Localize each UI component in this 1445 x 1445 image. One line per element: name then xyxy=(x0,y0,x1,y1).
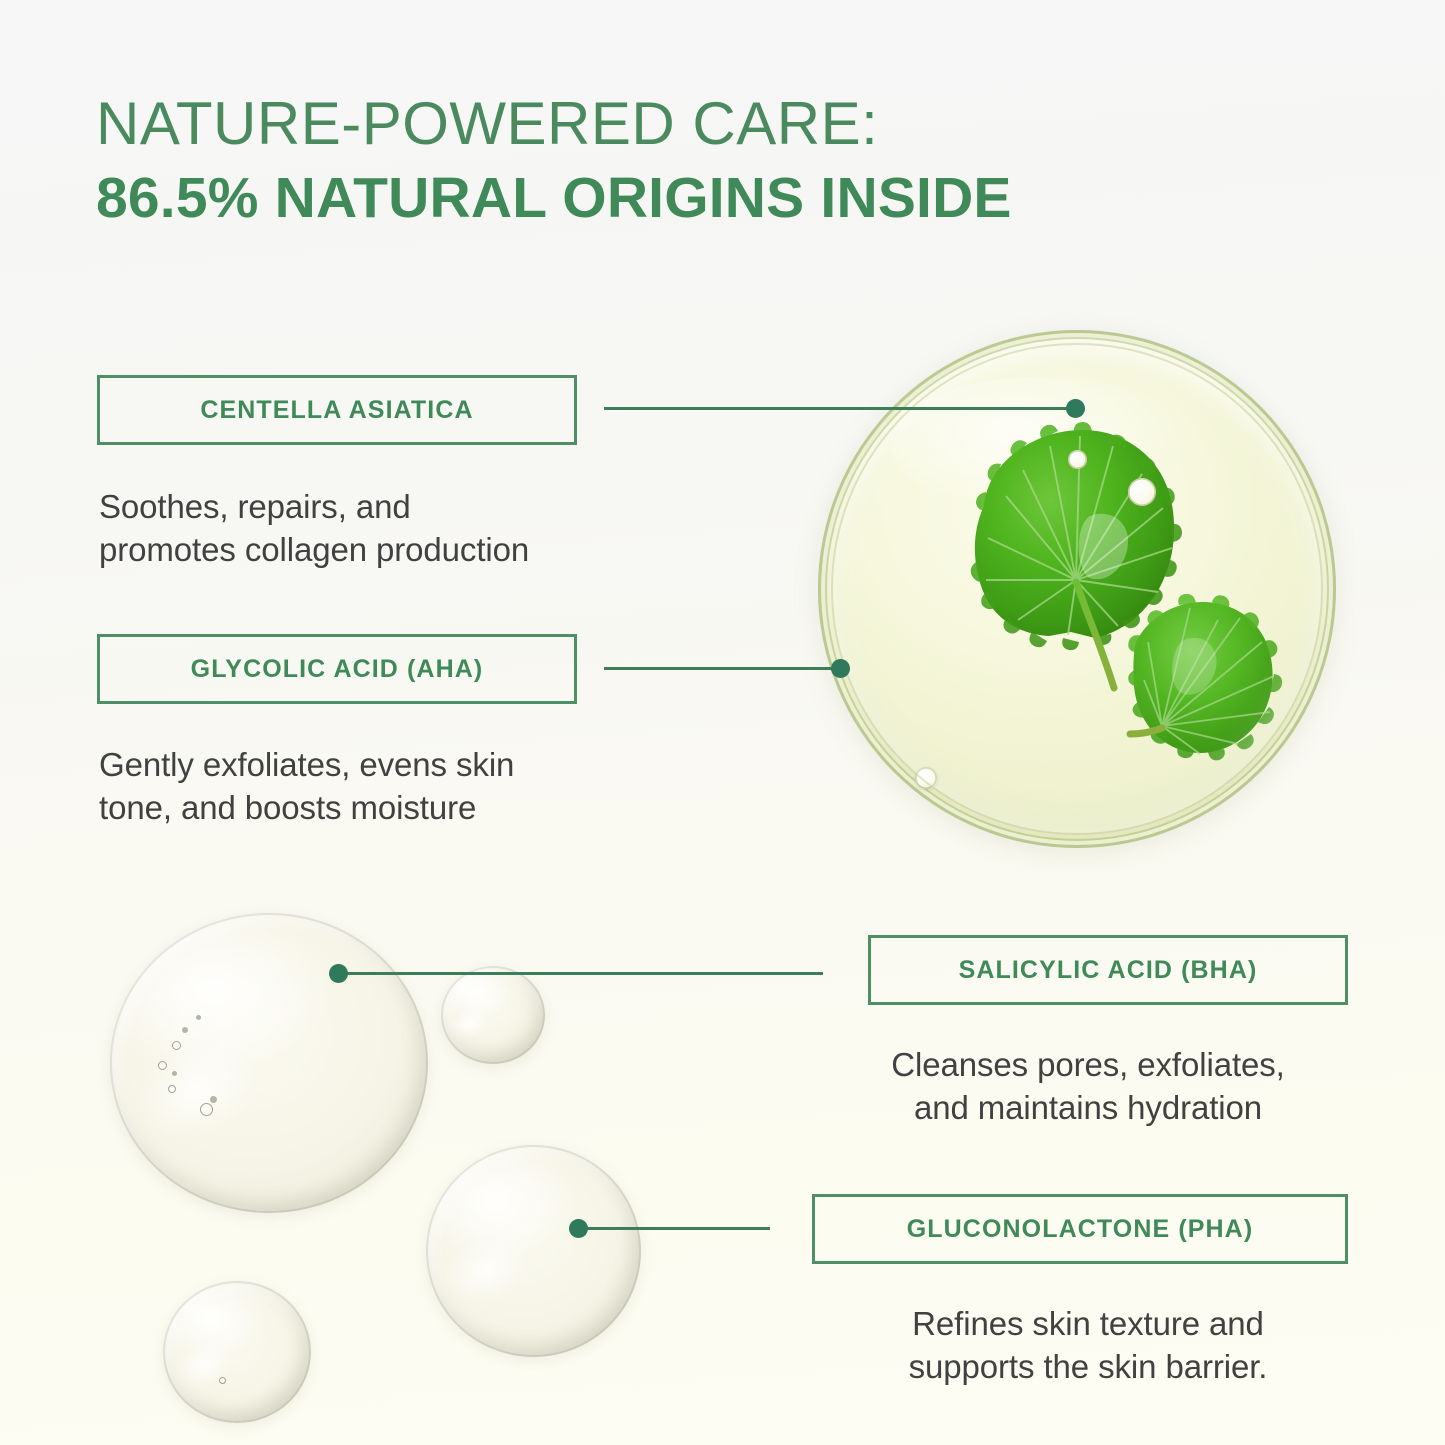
ingredient-description-salicylic-acid: Cleanses pores, exfoliates, and maintain… xyxy=(828,1044,1348,1130)
connector-line-salicylic xyxy=(345,972,823,975)
description-line-2: promotes collagen production xyxy=(99,529,719,572)
connector-dot-centella xyxy=(1066,399,1085,418)
leaf-small xyxy=(1128,594,1282,760)
micro-bubble xyxy=(196,1015,201,1020)
micro-bubble xyxy=(172,1041,181,1050)
description-line-1: Soothes, repairs, and xyxy=(99,486,719,529)
ingredient-description-gluconolactone: Refines skin texture and supports the sk… xyxy=(828,1303,1348,1389)
ingredient-label-gluconolactone[interactable]: GLUCONOLACTONE (PHA) xyxy=(812,1194,1348,1264)
description-line-1: Refines skin texture and xyxy=(828,1303,1348,1346)
droplet-rim xyxy=(426,1145,641,1357)
ingredient-label-text: SALICYLIC ACID (BHA) xyxy=(959,956,1258,985)
gel-droplet-small-bottom xyxy=(163,1281,311,1423)
page-title: NATURE-POWERED CARE: 86.5% NATURAL ORIGI… xyxy=(96,92,1276,229)
description-line-2: supports the skin barrier. xyxy=(828,1346,1348,1389)
gel-droplet-small-top xyxy=(441,966,545,1064)
ingredient-label-salicylic-acid[interactable]: SALICYLIC ACID (BHA) xyxy=(868,935,1348,1005)
ingredient-label-text: GLUCONOLACTONE (PHA) xyxy=(907,1215,1254,1244)
liquid-bubble-3 xyxy=(915,767,937,789)
ingredient-description-centella-asiatica: Soothes, repairs, and promotes collagen … xyxy=(99,486,719,572)
ingredient-label-centella-asiatica[interactable]: CENTELLA ASIATICA xyxy=(97,375,577,445)
micro-bubble xyxy=(172,1071,177,1076)
description-line-1: Gently exfoliates, evens skin xyxy=(99,744,719,787)
micro-bubble xyxy=(182,1027,188,1033)
micro-bubble xyxy=(219,1377,226,1384)
gel-droplet-medium xyxy=(426,1145,641,1357)
micro-bubble xyxy=(200,1103,213,1116)
droplet-rim xyxy=(163,1281,311,1423)
connector-line-gluconolactone xyxy=(585,1227,770,1230)
ingredient-label-glycolic-acid[interactable]: GLYCOLIC ACID (AHA) xyxy=(97,634,577,704)
connector-line-glycolic xyxy=(604,667,840,670)
droplet-rim xyxy=(441,966,545,1064)
micro-bubble xyxy=(168,1085,176,1093)
ingredient-description-glycolic-acid: Gently exfoliates, evens skin tone, and … xyxy=(99,744,719,830)
description-line-2: tone, and boosts moisture xyxy=(99,787,719,830)
headline-line-1: NATURE-POWERED CARE: xyxy=(96,92,1276,156)
connector-dot-salicylic xyxy=(329,964,348,983)
gel-droplet-large xyxy=(110,913,428,1213)
connector-line-centella xyxy=(604,407,1074,410)
liquid-bubble-1 xyxy=(1068,450,1087,469)
connector-dot-gluconolactone xyxy=(569,1219,588,1238)
connector-dot-glycolic xyxy=(831,659,850,678)
ingredient-label-text: CENTELLA ASIATICA xyxy=(200,396,473,425)
micro-bubble xyxy=(158,1061,167,1070)
ingredient-label-text: GLYCOLIC ACID (AHA) xyxy=(191,655,484,684)
liquid-bubble-2 xyxy=(1128,478,1156,506)
leaf-stem-small xyxy=(1130,728,1162,734)
headline-line-2: 86.5% NATURAL ORIGINS INSIDE xyxy=(96,168,1276,230)
description-line-2: and maintains hydration xyxy=(828,1087,1348,1130)
micro-bubble xyxy=(210,1096,217,1103)
description-line-1: Cleanses pores, exfoliates, xyxy=(828,1044,1348,1087)
